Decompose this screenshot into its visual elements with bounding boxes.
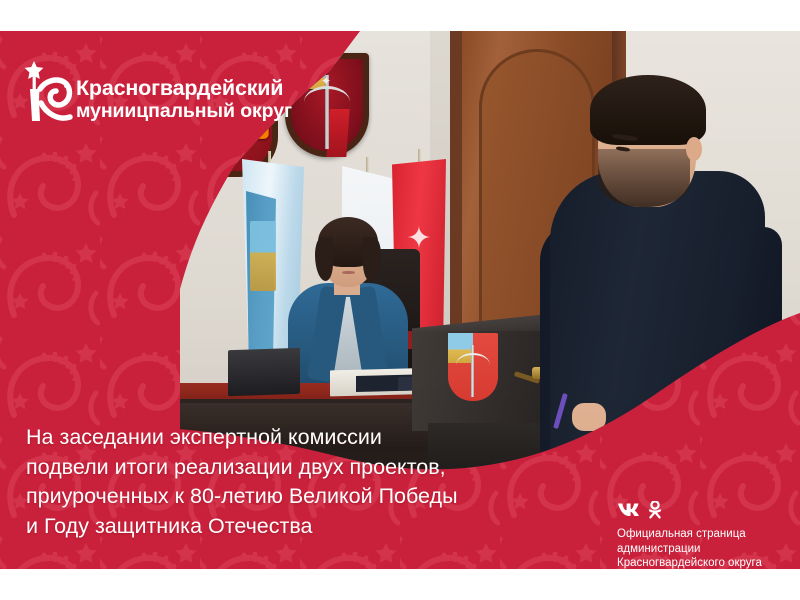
logo-line-2: муниицпальный округ <box>76 100 291 122</box>
social-icons <box>617 501 792 523</box>
odnoklassniki-icon[interactable] <box>648 501 662 524</box>
social-line-1: Официальная страница <box>617 527 792 542</box>
k-monogram-icon <box>20 55 80 123</box>
logo-wordmark: Красногвардейский муниицпальный округ <box>76 77 291 122</box>
banner-canvas: 🆚 △ ✦ ✦ <box>0 0 800 600</box>
red-banner: 🆚 △ ✦ ✦ <box>0 31 800 569</box>
municipality-logo[interactable]: Красногвардейский муниицпальный округ <box>20 53 290 125</box>
logo-line-1: Красногвардейский <box>76 77 291 100</box>
vk-icon[interactable] <box>617 502 641 522</box>
social-block: Официальная страница администрации Красн… <box>617 501 792 569</box>
social-line-3: Красногвардейского округа <box>617 556 792 569</box>
caption-line-4: и Году защитника Отечества <box>26 512 586 542</box>
caption-block: На заседании экспертной комиссии подвели… <box>26 423 586 541</box>
caption-line-2: подвели итоги реализации двух проектов, <box>26 453 586 483</box>
caption-line-3: приуроченных к 80-летию Великой Победы <box>26 482 586 512</box>
social-line-2: администрации <box>617 542 792 557</box>
caption-line-1: На заседании экспертной комиссии <box>26 423 586 453</box>
